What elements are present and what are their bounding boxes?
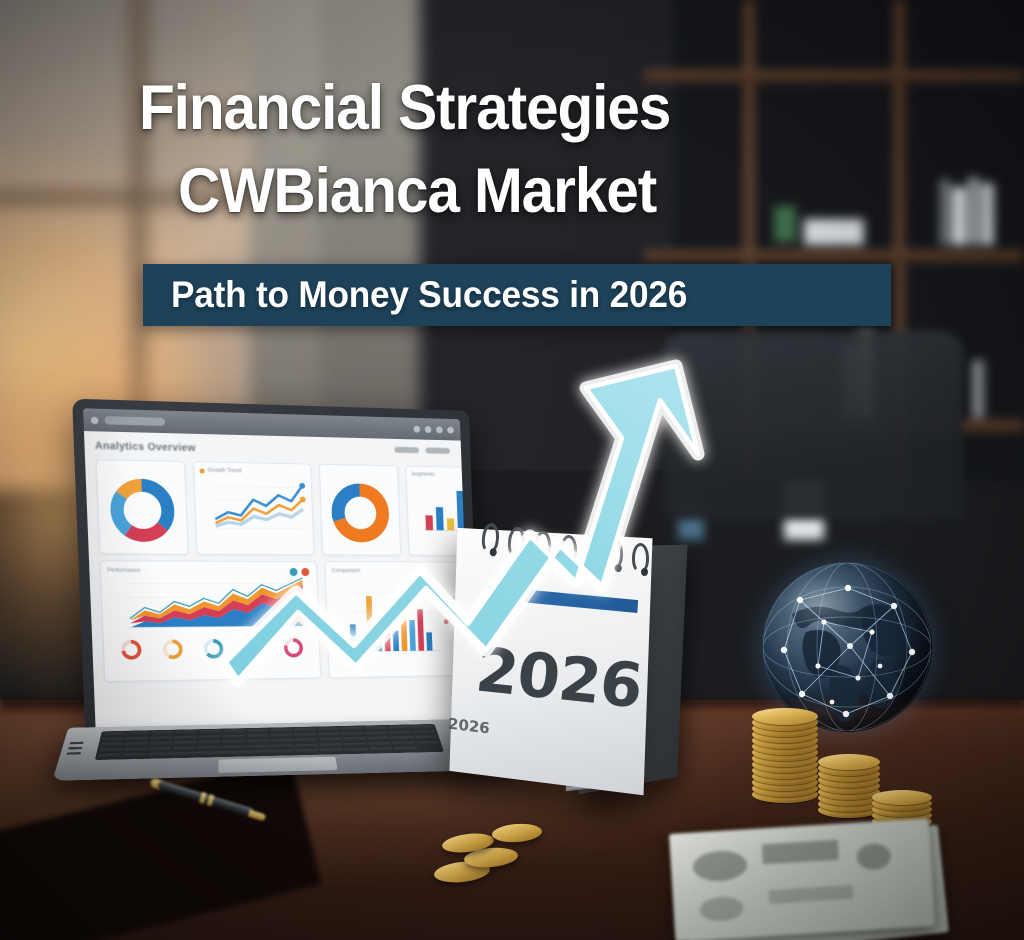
- app-icon: [91, 416, 99, 423]
- banknotes: [672, 820, 992, 940]
- kpi-ring-1: [118, 637, 144, 662]
- trackpad[interactable]: [218, 757, 337, 773]
- title-line-2: CWBianca Market: [178, 161, 656, 222]
- subtitle-banner: Path to Money Success in 2026: [143, 264, 891, 326]
- banknote-front: [669, 818, 935, 940]
- card-revenue-donut[interactable]: [96, 459, 189, 554]
- window-title-blur: [104, 416, 165, 426]
- kpi-ring-2: [160, 637, 186, 662]
- subtitle-text: Path to Money Success in 2026: [171, 274, 687, 316]
- poster-canvas: Analytics Overview: [0, 0, 1024, 940]
- growth-arrow: [230, 350, 750, 750]
- coin-stack-tall: [752, 712, 822, 802]
- laptop-ports: [67, 742, 84, 755]
- title-line-1: Financial Strategies: [139, 78, 670, 139]
- network-globe: [762, 562, 932, 732]
